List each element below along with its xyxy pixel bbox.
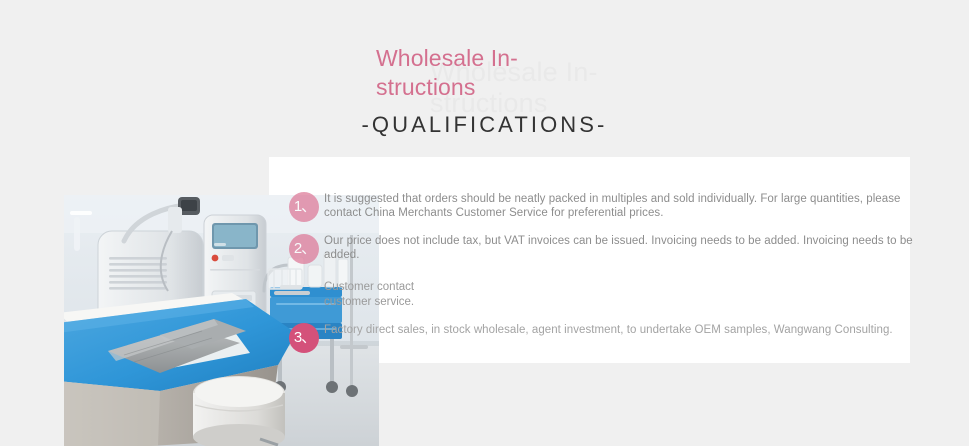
list-item: 2、 Our price does not include tax, but V… — [289, 234, 914, 268]
list-item-text-2: Our price does not include tax, but VAT … — [324, 234, 914, 262]
list-item: 1、 It is suggested that orders should be… — [289, 192, 914, 226]
customer-service-note: Customer contact customer service. — [324, 280, 449, 309]
list-number-badge-2: 2、 — [289, 234, 319, 264]
instruction-list: 1、 It is suggested that orders should be… — [289, 192, 914, 361]
page-title: Wholesale In- structions — [376, 44, 576, 102]
heading-block: Wholesale In- structions Wholesale In- s… — [0, 0, 969, 150]
page-subtitle: -QUALIFICATIONS- — [0, 111, 969, 139]
list-item-text-1: It is suggested that orders should be ne… — [324, 192, 914, 220]
list-number-badge-1: 1、 — [289, 192, 319, 222]
list-number-badge-3: 3、 — [289, 323, 319, 353]
list-item-text-3: Factory direct sales, in stock wholesale… — [324, 323, 914, 338]
list-item: 3、 Factory direct sales, in stock wholes… — [289, 323, 914, 357]
